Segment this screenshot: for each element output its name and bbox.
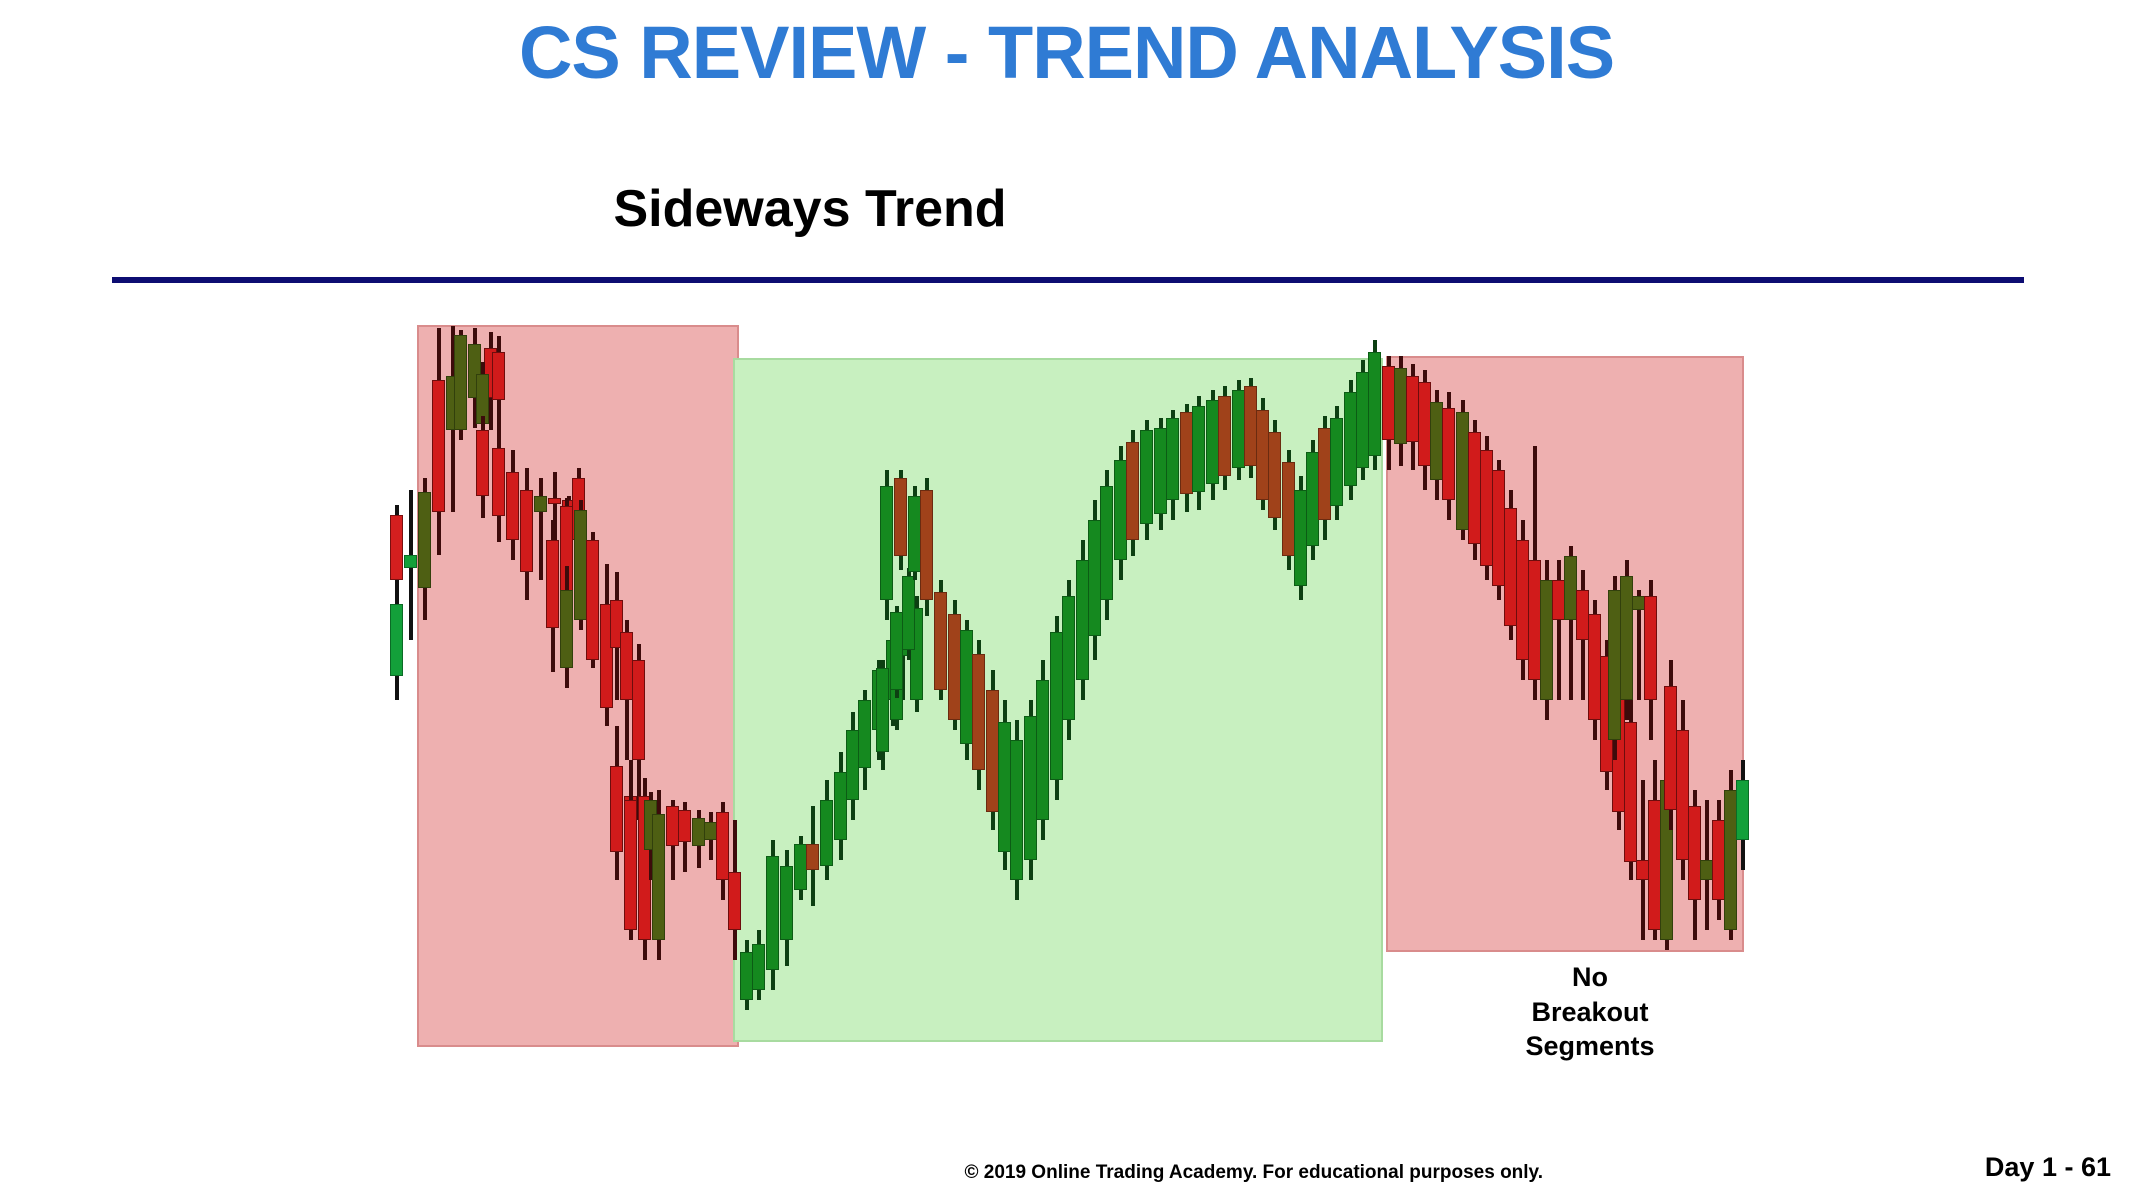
- candle-body: [1166, 418, 1179, 500]
- candle-body: [1368, 352, 1381, 456]
- candle-body: [1644, 596, 1657, 700]
- candle-body: [632, 660, 645, 760]
- candlestick: [546, 520, 559, 672]
- candle-body: [972, 654, 985, 770]
- candle-body: [780, 866, 793, 940]
- candlestick: [586, 532, 599, 668]
- candle-body: [492, 352, 505, 400]
- candle-body: [858, 700, 871, 768]
- candle-body: [1330, 418, 1343, 506]
- no-breakout-annotation: No Breakout Segments: [1480, 960, 1700, 1064]
- candle-body: [624, 800, 637, 930]
- candle-body: [454, 335, 467, 430]
- candle-body: [560, 590, 573, 668]
- candlestick: [1268, 420, 1281, 530]
- candlestick: [506, 450, 519, 560]
- candlestick: [678, 802, 691, 872]
- candlestick-chart: [0, 0, 2133, 1200]
- candle-body: [1268, 432, 1281, 518]
- candlestick: [560, 566, 573, 688]
- candle-body: [586, 540, 599, 660]
- candle-body: [876, 668, 889, 752]
- slide-root: CS REVIEW - TREND ANALYSIS Sideways Tren…: [0, 0, 2133, 1200]
- candlestick: [1368, 340, 1381, 470]
- candlestick: [1036, 660, 1049, 840]
- candle-body: [546, 540, 559, 628]
- candlestick: [1218, 386, 1231, 490]
- candlestick: [1442, 392, 1455, 520]
- candlestick: [876, 660, 889, 770]
- candle-body: [1062, 596, 1075, 720]
- candle-body: [902, 576, 915, 650]
- annotation-line-3: Segments: [1480, 1029, 1700, 1064]
- candlestick: [1736, 760, 1749, 870]
- candlestick: [624, 790, 637, 940]
- candlestick: [1100, 470, 1113, 620]
- candle-body: [432, 380, 445, 512]
- candle-body: [520, 490, 533, 572]
- candlestick: [1140, 420, 1153, 540]
- candle-body: [920, 490, 933, 600]
- candle-body: [1736, 780, 1749, 840]
- candle-body: [820, 800, 833, 866]
- candle-body: [492, 448, 505, 516]
- candlestick: [610, 726, 623, 880]
- candlestick: [418, 478, 431, 620]
- candlestick: [920, 478, 933, 616]
- candlestick: [1330, 406, 1343, 520]
- annotation-line-2: Breakout: [1480, 995, 1700, 1030]
- candlestick: [894, 470, 907, 570]
- candlestick: [432, 328, 445, 555]
- candlestick: [766, 840, 779, 990]
- candle-wick: [539, 478, 543, 580]
- candle-body: [404, 555, 417, 568]
- candlestick: [1644, 580, 1657, 740]
- candle-body: [1126, 442, 1139, 540]
- candle-body: [806, 844, 819, 870]
- candle-body: [880, 486, 893, 600]
- candlestick: [404, 490, 417, 640]
- candlestick: [752, 930, 765, 1000]
- candle-body: [652, 814, 665, 940]
- candle-body: [752, 944, 765, 990]
- candlestick: [492, 432, 505, 542]
- candlestick: [1010, 720, 1023, 900]
- candlestick: [390, 588, 403, 700]
- candlestick: [454, 330, 467, 440]
- candle-body: [1100, 486, 1113, 600]
- candlestick: [492, 336, 505, 432]
- candlestick: [1166, 410, 1179, 520]
- candle-body: [476, 430, 489, 496]
- candle-body: [728, 872, 741, 930]
- candle-body: [534, 496, 547, 512]
- candle-body: [678, 810, 691, 842]
- candlestick: [902, 568, 915, 660]
- candlestick: [476, 416, 489, 518]
- candle-body: [1036, 680, 1049, 820]
- candlestick: [858, 690, 871, 790]
- candle-body: [610, 766, 623, 852]
- candlestick: [1192, 396, 1205, 510]
- candle-body: [418, 492, 431, 588]
- candle-body: [1442, 408, 1455, 500]
- candle-body: [766, 856, 779, 970]
- candlestick: [972, 640, 985, 790]
- candle-body: [894, 478, 907, 556]
- candle-body: [1010, 740, 1023, 880]
- page-number: Day 1 - 61: [1985, 1152, 2111, 1183]
- candle-body: [1140, 430, 1153, 524]
- candlestick: [820, 780, 833, 880]
- candlestick: [1062, 580, 1075, 740]
- candlestick: [1126, 430, 1139, 556]
- candlestick: [520, 468, 533, 600]
- candlestick: [728, 820, 741, 960]
- candle-body: [506, 472, 519, 540]
- candlestick: [934, 580, 947, 700]
- candlestick: [806, 806, 819, 906]
- candle-body: [1218, 396, 1231, 476]
- annotation-line-1: No: [1480, 960, 1700, 995]
- candlestick: [880, 470, 893, 620]
- candlestick: [780, 850, 793, 966]
- candle-body: [390, 515, 403, 580]
- candlestick: [652, 790, 665, 960]
- copyright-text: © 2019 Online Trading Academy. For educa…: [0, 1162, 1543, 1184]
- candle-body: [390, 604, 403, 676]
- candle-body: [934, 592, 947, 690]
- candle-body: [1192, 406, 1205, 492]
